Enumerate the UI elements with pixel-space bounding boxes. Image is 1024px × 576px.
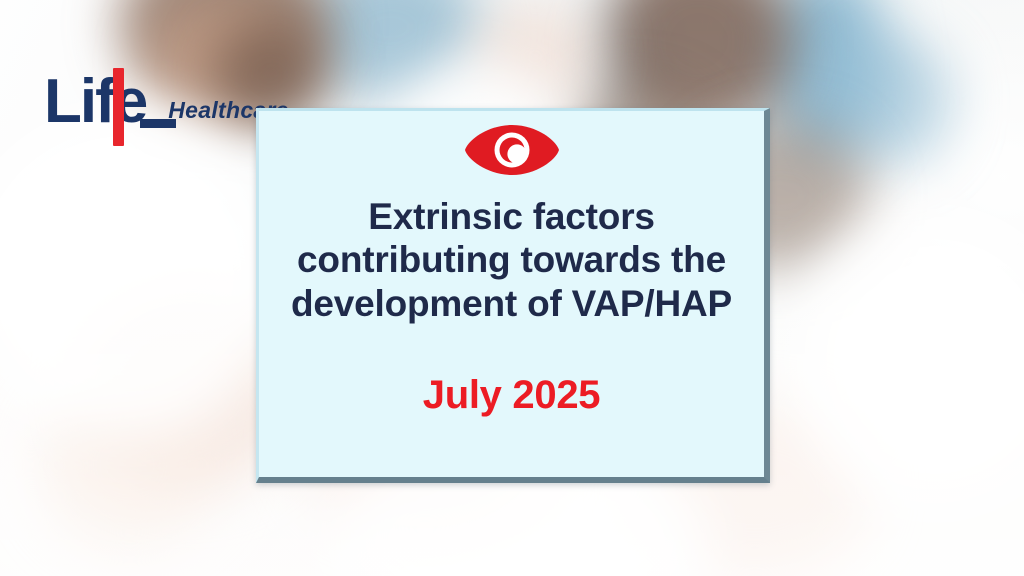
slide-title: Extrinsic factors contributing towards t… <box>259 195 764 325</box>
title-line-3: development of VAP/HAP <box>265 282 758 325</box>
date-text: July 2025 <box>259 373 764 417</box>
presentation-slide: Life Healthcare Extrinsic factors contri… <box>0 0 1024 576</box>
logo-red-f-stroke <box>113 68 124 146</box>
title-line-1: Extrinsic factors <box>265 195 758 238</box>
logo-wordmark-life: Life <box>44 74 146 130</box>
eye-icon <box>464 123 560 177</box>
slide-date: July 2025 <box>259 373 764 417</box>
title-content-box: Extrinsic factors contributing towards t… <box>256 108 770 483</box>
life-healthcare-logo: Life Healthcare <box>44 74 289 130</box>
title-line-2: contributing towards the <box>265 238 758 281</box>
